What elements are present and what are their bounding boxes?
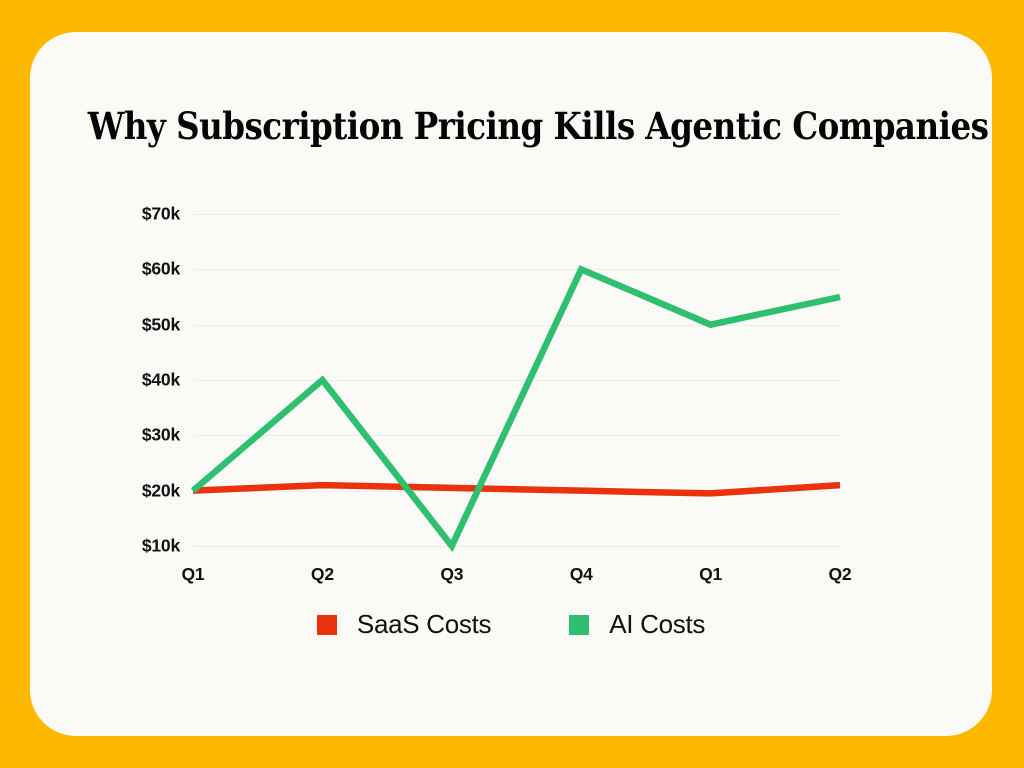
line-ai-costs xyxy=(193,269,840,546)
legend-item-label: SaaS Costs xyxy=(357,609,491,640)
y-axis-tick-label: $10k xyxy=(142,536,180,557)
y-axis-tick-label: $20k xyxy=(142,480,180,501)
chart-card: Why Subscription Pricing Kills Agentic C… xyxy=(30,32,992,736)
y-axis-tick-label: $40k xyxy=(142,370,180,391)
x-axis-tick-label: Q2 xyxy=(311,564,334,585)
y-axis-tick-label: $50k xyxy=(142,314,180,335)
x-axis-tick-label: Q1 xyxy=(699,564,722,585)
y-axis-tick-label: $60k xyxy=(142,259,180,280)
square-marker-icon xyxy=(569,615,589,635)
legend-item-label: AI Costs xyxy=(609,609,705,640)
chart-legend: SaaS Costs AI Costs xyxy=(30,609,992,640)
x-axis-tick-label: Q3 xyxy=(440,564,463,585)
line-saas-costs xyxy=(193,485,840,493)
series-lines xyxy=(193,214,840,546)
legend-item-ai-costs[interactable]: AI Costs xyxy=(569,609,705,640)
y-axis-tick-label: $70k xyxy=(142,204,180,225)
legend-item-saas-costs[interactable]: SaaS Costs xyxy=(317,609,491,640)
x-axis-tick-label: Q1 xyxy=(182,564,205,585)
plot-area: $10k$20k$30k$40k$50k$60k$70k Q1Q2Q3Q4Q1Q… xyxy=(193,214,840,546)
square-marker-icon xyxy=(317,615,337,635)
x-axis-tick-label: Q4 xyxy=(570,564,593,585)
page-background: Why Subscription Pricing Kills Agentic C… xyxy=(0,0,1024,768)
y-axis-tick-label: $30k xyxy=(142,425,180,446)
axis-baseline xyxy=(193,546,840,547)
x-axis-tick-label: Q2 xyxy=(829,564,852,585)
